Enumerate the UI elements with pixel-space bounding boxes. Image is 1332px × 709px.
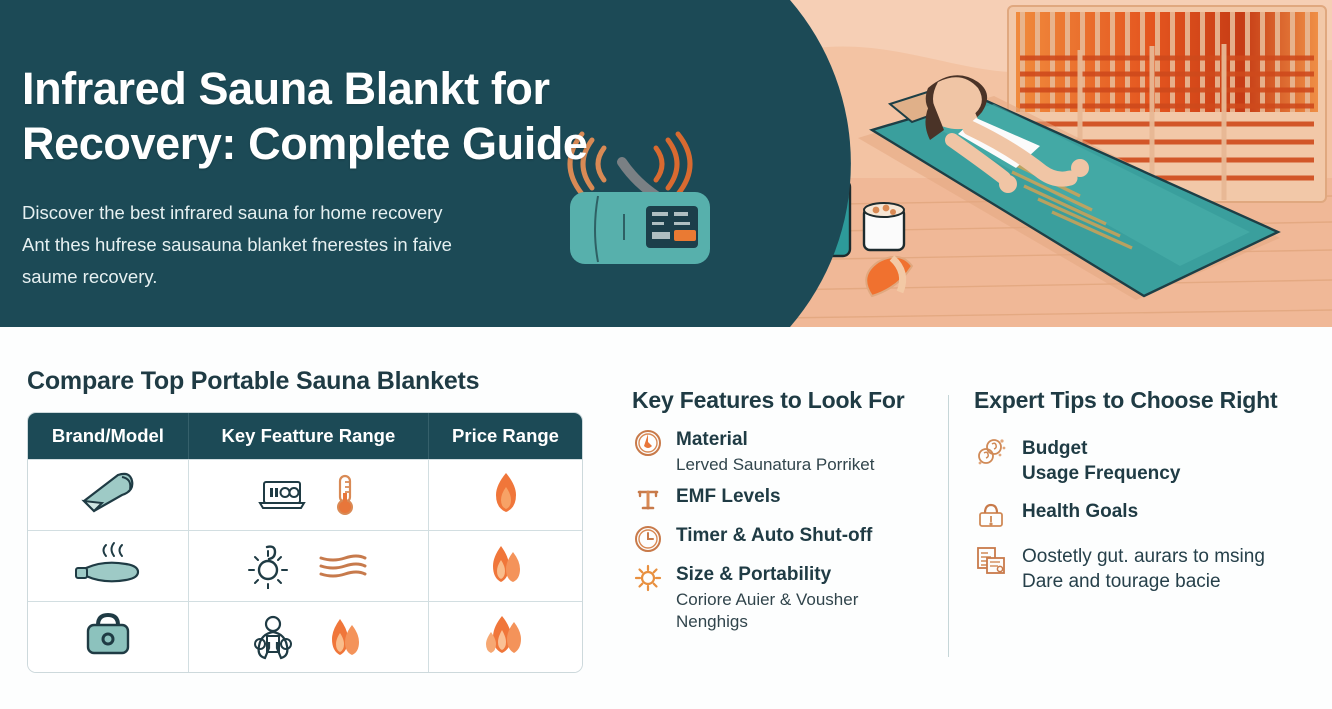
tip-line-2: Usage Frequency xyxy=(1022,461,1180,486)
coins-icon xyxy=(974,436,1008,468)
tip-item-budget: Budget Usage Frequency xyxy=(974,436,1294,486)
page-title: Infrared Sauna Blankt for Recovery: Comp… xyxy=(22,62,722,172)
flame-triple-icon xyxy=(480,613,532,657)
infographic-page: Infrared Sauna Blankt for Recovery: Comp… xyxy=(0,0,1332,709)
feature-name: Size & Portability xyxy=(676,563,932,587)
cell-key-feature xyxy=(189,459,429,530)
feature-item-timer: Timer & Auto Shut-off xyxy=(632,524,932,554)
key-features-block: Key Features to Look For Material Lerved… xyxy=(632,387,932,642)
hero-subtitle: Discover the best infrared sauna for hom… xyxy=(22,197,722,294)
table-section-title: Compare Top Portable Sauna Blankets xyxy=(27,367,583,396)
tip-line-2: Dare and tourage bacie xyxy=(1022,569,1265,594)
tip-line-1: Oostetly gut. aurars to msing xyxy=(1022,544,1265,569)
hero-banner: Infrared Sauna Blankt for Recovery: Comp… xyxy=(0,0,1332,327)
cell-price xyxy=(429,530,582,601)
heat-lamp-icon xyxy=(247,543,291,589)
cell-key-feature xyxy=(189,530,429,601)
flame-single-icon xyxy=(489,471,523,515)
cell-price xyxy=(429,601,582,672)
table-header-row: Brand/Model Key Featture Range Price Ran… xyxy=(28,413,582,459)
cell-brand xyxy=(28,601,189,672)
sun-icon xyxy=(632,563,664,593)
tip-line-1: Health Goals xyxy=(1022,499,1138,524)
tip-item-documents: Oostetly gut. aurars to msing Dare and t… xyxy=(974,544,1294,594)
steaming-blanket-icon xyxy=(72,540,144,588)
column-header-price: Price Range xyxy=(429,413,582,459)
column-header-brand: Brand/Model xyxy=(28,413,189,459)
thermometer-icon xyxy=(332,473,358,517)
rolled-blanket-icon xyxy=(76,469,140,517)
comparison-table: Brand/Model Key Featture Range Price Ran… xyxy=(27,412,583,673)
table-row xyxy=(28,530,582,601)
gauge-icon xyxy=(632,428,664,458)
table-row xyxy=(28,601,582,672)
feature-desc: Coriore Auier & Vousher Nenghigs xyxy=(676,589,932,633)
features-section-title: Key Features to Look For xyxy=(632,387,932,414)
feature-desc: Lerved Saunatura Porriket xyxy=(676,454,874,476)
hero-subtitle-line-1: Discover the best infrared sauna for hom… xyxy=(22,197,722,229)
clock-icon xyxy=(632,524,664,554)
feature-item-material: Material Lerved Saunatura Porriket xyxy=(632,428,932,476)
tip-item-health-goals: Health Goals xyxy=(974,499,1294,531)
documents-icon xyxy=(974,544,1008,576)
carry-bag-icon xyxy=(80,611,136,659)
hero-subtitle-line-2: Ant thes hufrese sausauna blanket fneres… xyxy=(22,229,722,261)
hero-subtitle-line-3: saume recovery. xyxy=(22,261,722,293)
flame-double-icon xyxy=(323,615,367,659)
cell-price xyxy=(429,459,582,530)
cell-key-feature xyxy=(189,601,429,672)
control-panel-icon xyxy=(258,477,306,513)
feature-item-size: Size & Portability Coriore Auier & Voush… xyxy=(632,563,932,633)
heat-waves-icon xyxy=(317,552,369,580)
body-detox-icon xyxy=(249,614,297,660)
comparison-table-block: Compare Top Portable Sauna Blankets Bran… xyxy=(27,367,583,673)
table-row xyxy=(28,459,582,530)
content-area: Compare Top Portable Sauna Blankets Bran… xyxy=(0,327,1332,709)
column-header-key-feature: Key Featture Range xyxy=(189,413,429,459)
cell-brand xyxy=(28,530,189,601)
flame-double-icon xyxy=(484,542,528,586)
expert-tips-block: Expert Tips to Choose Right Budget Usage… xyxy=(974,387,1294,607)
tips-section-title: Expert Tips to Choose Right xyxy=(974,387,1294,414)
tip-line-1: Budget xyxy=(1022,436,1180,461)
column-divider xyxy=(948,395,949,657)
hero-text-block: Infrared Sauna Blankt for Recovery: Comp… xyxy=(22,62,722,293)
health-bag-icon xyxy=(974,499,1008,531)
feature-name: Timer & Auto Shut-off xyxy=(676,524,872,548)
emf-meter-icon xyxy=(632,485,664,515)
cell-brand xyxy=(28,459,189,530)
feature-name: Material xyxy=(676,428,874,452)
feature-name: EMF Levels xyxy=(676,485,781,509)
feature-item-emf: EMF Levels xyxy=(632,485,932,515)
